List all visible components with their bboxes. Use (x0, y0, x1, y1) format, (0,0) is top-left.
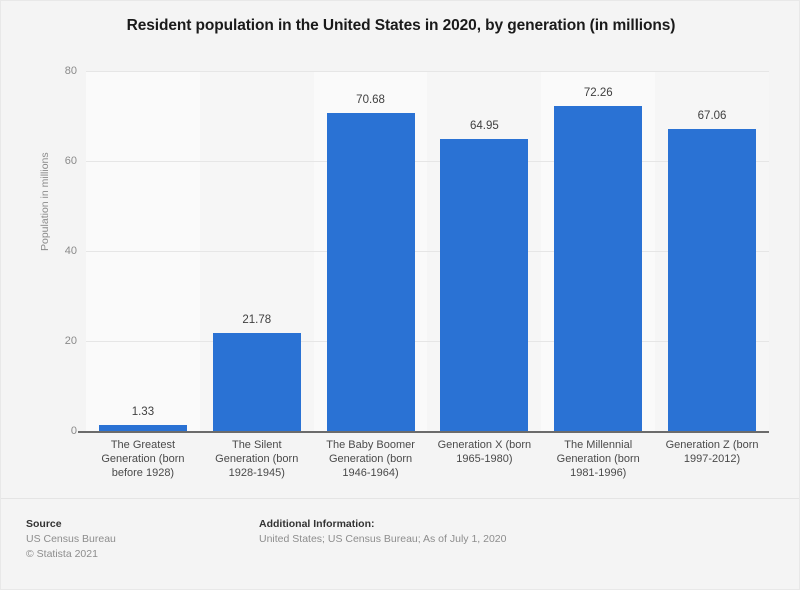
bar-value-label: 64.95 (470, 120, 499, 132)
x-axis-label-line: 1981-1996) (544, 466, 652, 480)
x-axis-label: Generation Z (born1997-2012) (655, 438, 769, 480)
bar-value-label: 21.78 (242, 314, 271, 326)
y-axis-title: Population in millions (39, 152, 51, 251)
bar-slot: 67.06 (655, 71, 769, 431)
x-axis-label-line: before 1928) (89, 466, 197, 480)
x-axis-label: The Baby BoomerGeneration (born1946-1964… (314, 438, 428, 480)
footer-additional-heading: Additional Information: (259, 517, 759, 532)
bar-slot: 70.68 (314, 71, 428, 431)
x-axis-label: The GreatestGeneration (bornbefore 1928) (86, 438, 200, 480)
footer-source-line: US Census Bureau (26, 532, 246, 547)
y-axis-tick-label: 0 (71, 425, 77, 437)
bar-value-label: 70.68 (356, 94, 385, 106)
bar[interactable] (440, 139, 528, 431)
x-axis-label: The MillennialGeneration (born1981-1996) (541, 438, 655, 480)
x-axis-label-line: Generation X (born (430, 438, 538, 452)
footer-additional-block: Additional Information: United States; U… (259, 517, 759, 547)
x-axis-label-line: 1946-1964) (317, 466, 425, 480)
bar-slot: 72.26 (541, 71, 655, 431)
bar[interactable] (327, 113, 415, 431)
footer-source-heading: Source (26, 517, 246, 532)
bar-value-label: 67.06 (698, 110, 727, 122)
x-axis-label: The SilentGeneration (born1928-1945) (200, 438, 314, 480)
x-axis-label-line: 1997-2012) (658, 452, 766, 466)
x-axis-label-line: 1928-1945) (203, 466, 311, 480)
statista-chart-page: Resident population in the United States… (0, 0, 800, 590)
x-axis-label-line: Generation (born (203, 452, 311, 466)
bar-slot: 1.33 (86, 71, 200, 431)
bar[interactable] (554, 106, 642, 431)
bar-value-label: 1.33 (132, 406, 154, 418)
bar-slot: 21.78 (200, 71, 314, 431)
x-axis-label-line: Generation (born (89, 452, 197, 466)
y-axis-tick-label: 60 (65, 155, 77, 167)
x-axis-label: Generation X (born1965-1980) (427, 438, 541, 480)
bar[interactable] (668, 129, 756, 431)
footer: Source US Census Bureau © Statista 2021 … (1, 517, 800, 577)
y-axis-tick-label: 80 (65, 65, 77, 77)
x-axis-label-line: Generation (born (544, 452, 652, 466)
bars-layer: 1.3321.7870.6864.9572.2667.06 (86, 71, 769, 431)
bar-slot: 64.95 (427, 71, 541, 431)
y-axis-tick-label: 20 (65, 335, 77, 347)
footer-copyright-line: © Statista 2021 (26, 547, 246, 562)
x-axis-line (78, 431, 769, 433)
x-axis-label-line: The Millennial (544, 438, 652, 452)
x-axis-label-line: Generation (born (317, 452, 425, 466)
bar-value-label: 72.26 (584, 87, 613, 99)
chart-title: Resident population in the United States… (1, 17, 800, 35)
x-axis-label-line: Generation Z (born (658, 438, 766, 452)
x-axis-label-line: The Silent (203, 438, 311, 452)
x-axis-label-line: The Baby Boomer (317, 438, 425, 452)
plot-area: 020406080 1.3321.7870.6864.9572.2667.06 (86, 71, 769, 431)
x-axis-label-line: The Greatest (89, 438, 197, 452)
y-axis-tick-label: 40 (65, 245, 77, 257)
bar[interactable] (213, 333, 301, 431)
x-axis-label-line: 1965-1980) (430, 452, 538, 466)
footer-source-block: Source US Census Bureau © Statista 2021 (26, 517, 246, 562)
footer-additional-line: United States; US Census Bureau; As of J… (259, 532, 759, 547)
footer-divider (1, 498, 799, 499)
x-axis-labels: The GreatestGeneration (bornbefore 1928)… (86, 438, 769, 480)
